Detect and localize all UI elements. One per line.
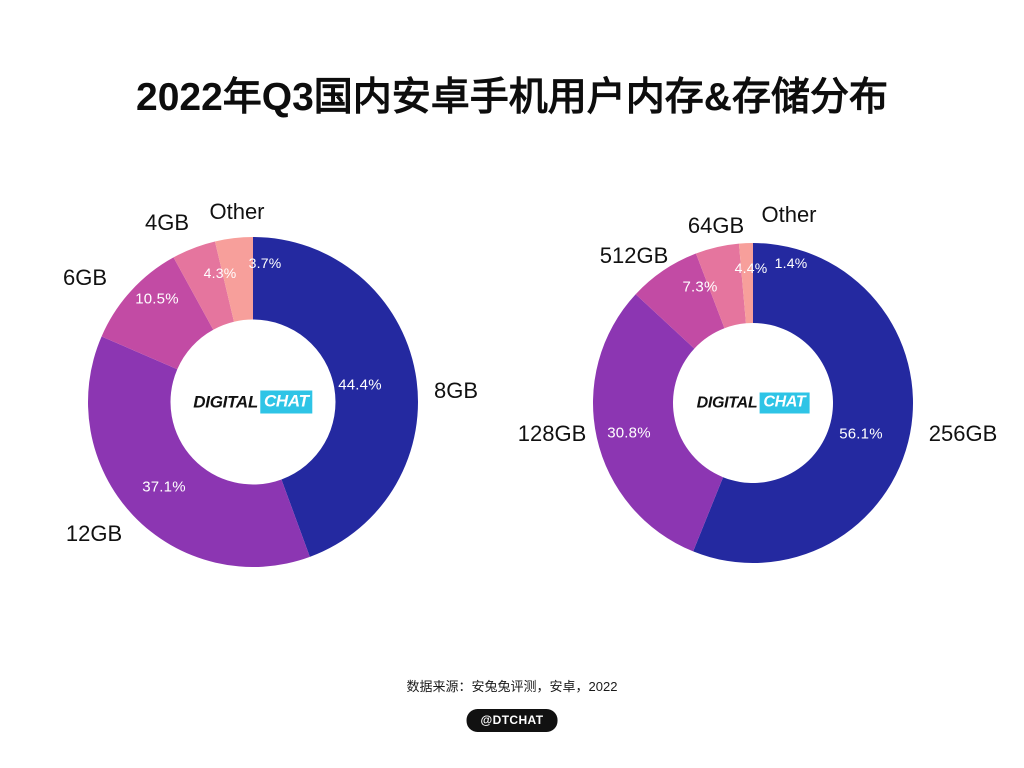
category-label-512gb: 512GB bbox=[600, 243, 669, 269]
category-label-other: Other bbox=[209, 199, 264, 225]
slice-percent-128gb: 30.8% bbox=[607, 425, 651, 442]
category-label-256gb: 256GB bbox=[929, 421, 998, 447]
slice-percent-8gb: 44.4% bbox=[338, 377, 382, 394]
logo-chat-text: CHAT bbox=[759, 393, 809, 414]
ram-donut-chart: DIGITALCHAT 44.4% 37.1% 10.5% 4.3% 3.7% … bbox=[88, 237, 418, 567]
slice-percent-other: 3.7% bbox=[249, 255, 282, 271]
page-title: 2022年Q3国内安卓手机用户内存&存储分布 bbox=[0, 76, 1024, 121]
source-note: 数据来源：安兔兔评测，安卓，2022 bbox=[0, 676, 1024, 695]
category-label-64gb: 64GB bbox=[688, 213, 744, 239]
slice-percent-4gb: 4.3% bbox=[204, 265, 237, 281]
category-label-6gb: 6GB bbox=[63, 265, 107, 291]
category-label-4gb: 4GB bbox=[145, 210, 189, 236]
logo-digital-text: DIGITAL bbox=[697, 394, 760, 412]
logo-digital-text: DIGITAL bbox=[193, 392, 260, 412]
dtchat-badge: @DTCHAT bbox=[467, 709, 558, 732]
center-logo-right: DIGITALCHAT bbox=[697, 393, 810, 414]
center-logo-left: DIGITALCHAT bbox=[193, 391, 312, 414]
slice-percent-512gb: 7.3% bbox=[683, 279, 718, 296]
category-label-other: Other bbox=[761, 202, 816, 228]
category-label-128gb: 128GB bbox=[518, 421, 587, 447]
slice-percent-12gb: 37.1% bbox=[142, 479, 186, 496]
category-label-8gb: 8GB bbox=[434, 378, 478, 404]
slice-percent-other: 1.4% bbox=[775, 255, 808, 271]
slice-percent-6gb: 10.5% bbox=[135, 291, 179, 308]
logo-chat-text: CHAT bbox=[260, 391, 313, 414]
slice-percent-256gb: 56.1% bbox=[839, 426, 883, 443]
slice-percent-64gb: 4.4% bbox=[735, 260, 768, 276]
category-label-12gb: 12GB bbox=[66, 521, 122, 547]
storage-donut-chart: DIGITALCHAT 56.1% 30.8% 7.3% 4.4% 1.4% 2… bbox=[593, 243, 913, 563]
